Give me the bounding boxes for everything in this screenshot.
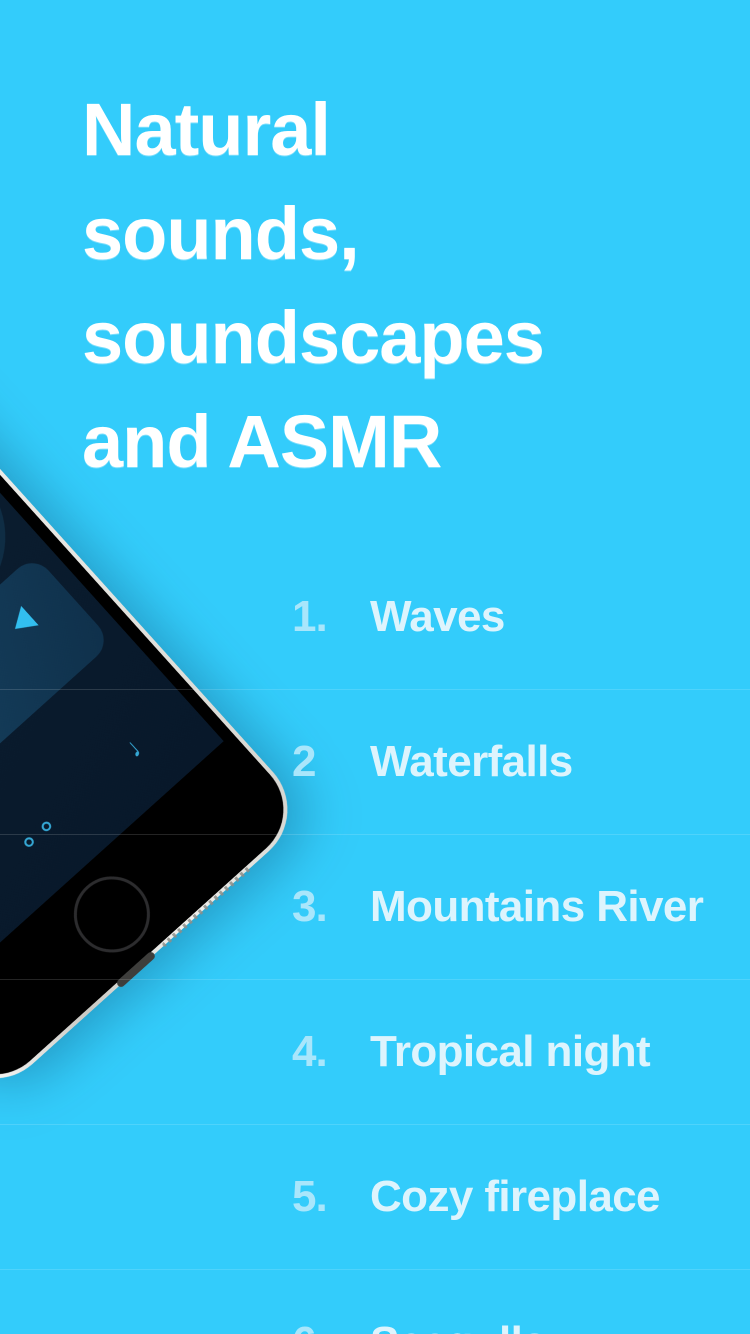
list-item[interactable]: 4. Tropical night bbox=[0, 980, 750, 1125]
list-item-number: 3. bbox=[292, 882, 370, 932]
list-item-number: 1. bbox=[292, 592, 370, 642]
list-item-number: 5. bbox=[292, 1172, 370, 1222]
list-item[interactable]: 3. Mountains River bbox=[0, 835, 750, 980]
app-store-screenshot: Natural sounds, soundscapes and ASMR For… bbox=[0, 0, 750, 1334]
list-item-number: 2 bbox=[292, 737, 370, 787]
list-item[interactable]: 5. Cozy fireplace bbox=[0, 1125, 750, 1270]
list-item-number: 6. bbox=[292, 1318, 370, 1334]
list-item-label: Waves bbox=[370, 592, 505, 642]
list-item-number: 4. bbox=[292, 1027, 370, 1077]
list-item-label: Mountains River bbox=[370, 882, 703, 932]
sound-list: 1. Waves 2 Waterfalls 3. Mountains River… bbox=[0, 545, 750, 1334]
list-item-label: Waterfalls bbox=[370, 737, 573, 787]
list-item-label: Seagulls bbox=[370, 1318, 546, 1334]
page-title: Natural sounds, soundscapes and ASMR bbox=[82, 78, 722, 494]
list-item[interactable]: 1. Waves bbox=[0, 545, 750, 690]
list-item[interactable]: 2 Waterfalls bbox=[0, 690, 750, 835]
list-item-label: Tropical night bbox=[370, 1027, 650, 1077]
list-item[interactable]: 6. Seagulls bbox=[0, 1270, 750, 1334]
list-item-label: Cozy fireplace bbox=[370, 1172, 660, 1222]
